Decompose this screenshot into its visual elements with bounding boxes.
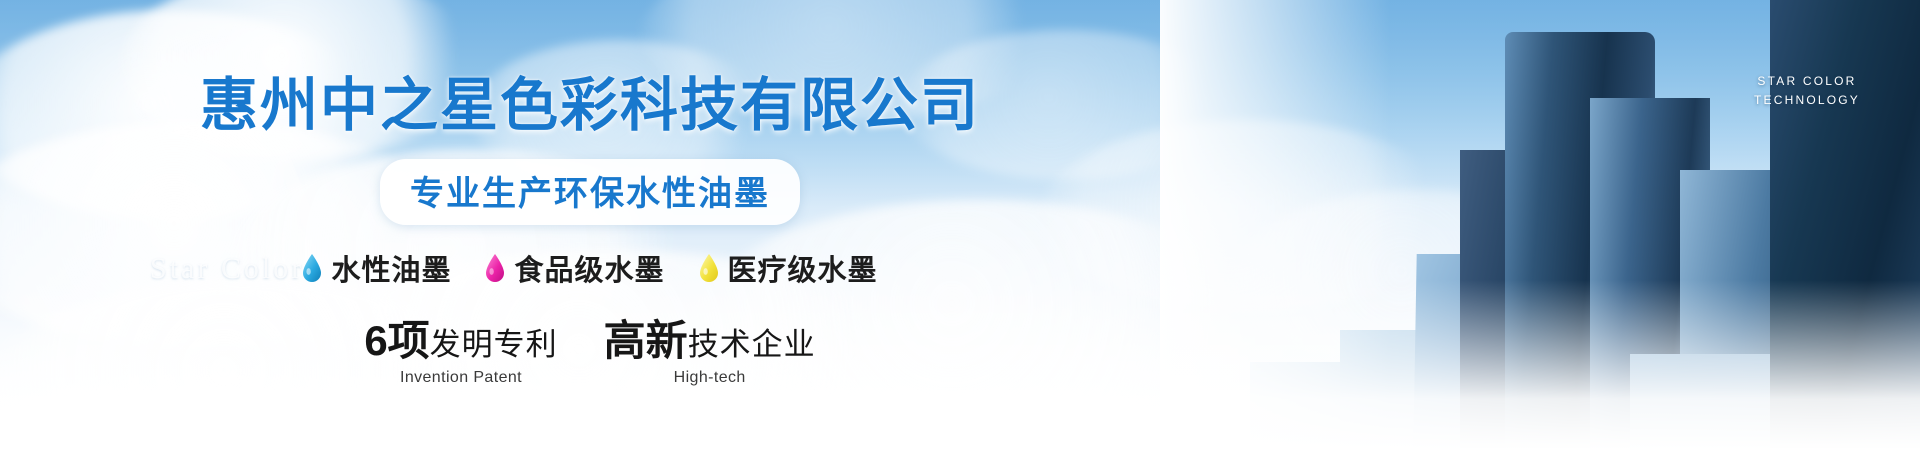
- company-title: 惠州中之星色彩科技有限公司: [200, 58, 980, 142]
- water-drop-icon: [699, 254, 719, 282]
- feature-item: 水性油墨: [302, 247, 451, 289]
- badge-main-line: 高新技术企业: [604, 319, 816, 364]
- feature-label: 食品级水墨: [514, 247, 664, 289]
- subtitle-text: 专业生产环保水性油墨: [410, 175, 770, 213]
- badge-subtitle: High-tech: [604, 369, 816, 387]
- badge-list: 6项发明专利 Invention Patent 高新技术企业 High-tech: [364, 319, 815, 387]
- badge-subtitle: Invention Patent: [364, 369, 557, 387]
- badge-suffix: 技术企业: [688, 327, 816, 362]
- corner-brand-line-2: TECHNOLOGY: [1754, 91, 1860, 110]
- feature-list: 水性油墨 食品级水墨: [302, 247, 877, 289]
- feature-item: 食品级水墨: [485, 247, 664, 289]
- corner-brand-mark: STAR COLOR TECHNOLOGY: [1754, 72, 1860, 109]
- badge-main-line: 6项发明专利: [364, 319, 557, 364]
- feature-label: 水性油墨: [331, 247, 451, 289]
- feature-label: 医疗级水墨: [728, 247, 878, 289]
- badge-prefix: 6项: [364, 317, 429, 364]
- water-drop-icon: [485, 254, 505, 282]
- badge-suffix: 发明专利: [430, 327, 558, 362]
- water-drop-icon: [302, 254, 322, 282]
- badge-item: 高新技术企业 High-tech: [604, 319, 816, 387]
- corner-brand-line-1: STAR COLOR: [1754, 72, 1860, 91]
- feature-item: 医疗级水墨: [699, 247, 878, 289]
- banner-content: 惠州中之星色彩科技有限公司 专业生产环保水性油墨 水性油墨: [0, 0, 1180, 450]
- hero-banner: Star Color STAR COLOR TECHNOLOGY 惠州中之星色彩…: [0, 0, 1920, 450]
- badge-prefix: 高新: [604, 317, 688, 364]
- subtitle-pill: 专业生产环保水性油墨: [380, 159, 800, 225]
- badge-item: 6项发明专利 Invention Patent: [364, 319, 557, 387]
